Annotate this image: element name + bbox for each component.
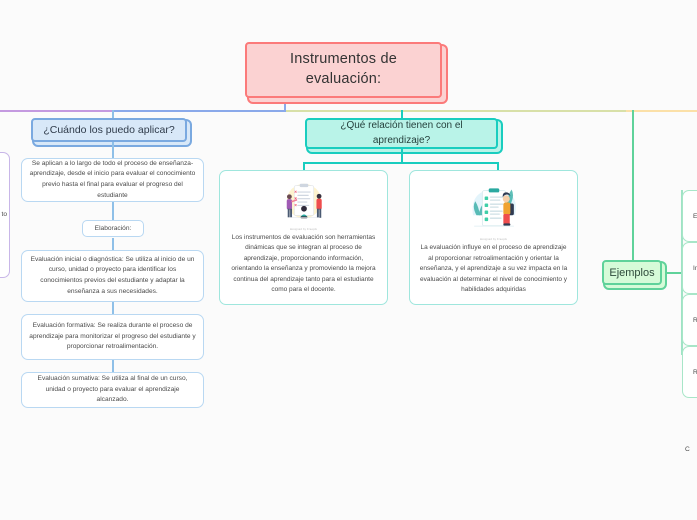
- clipped-item-en-text: En: [693, 213, 697, 220]
- root-title-line1: Instrumentos de: [290, 51, 397, 67]
- mindmap-canvas: Instrumentos de evaluación: ¿Cuándo los …: [0, 0, 697, 520]
- root-stem: [284, 98, 286, 112]
- branch-header-ejemplos[interactable]: Ejemplos: [602, 260, 662, 285]
- root-node[interactable]: Instrumentos de evaluación:: [245, 42, 442, 98]
- branch-relacion-split: [303, 162, 499, 164]
- clipboard-checklist-with-student-and-backpack-illustration: [460, 179, 528, 237]
- branch-header-cuando-label: ¿Cuándo los puedo aplicar?: [33, 124, 185, 136]
- trunk-purple-segment: [0, 110, 114, 112]
- evaluacion-sumativa-text: Evaluación sumativa: Se utiliza al final…: [29, 374, 196, 406]
- branch-cuando-spine-2: [112, 202, 114, 220]
- clipped-item-en[interactable]: En: [682, 190, 697, 242]
- branch-header-ejemplos-label: Ejemplos: [604, 267, 660, 279]
- intro-card[interactable]: Se aplican a lo largo de todo el proceso…: [21, 158, 204, 202]
- clipped-item-c[interactable]: C: [685, 446, 690, 453]
- evaluacion-influye-card[interactable]: designed by Freepik La evaluación influy…: [409, 170, 578, 305]
- instrumentos-dinamicos-text: Los instrumentos de evaluación son herra…: [228, 233, 379, 296]
- branch-ejemplos-stem: [632, 110, 634, 260]
- branch-cuando-spine-5: [112, 360, 114, 372]
- branch-cuando-spine-3: [112, 238, 114, 250]
- clipped-item-left-text: to: [2, 210, 8, 221]
- root-title-line2: evaluación:: [306, 71, 382, 87]
- clipped-item-r2-text: R: [693, 369, 697, 376]
- evaluacion-formativa-card[interactable]: Evaluación formativa: Se realiza durante…: [21, 314, 204, 360]
- elaboracion-pill-text: Elaboración:: [95, 225, 132, 232]
- evaluacion-inicial-card[interactable]: Evaluación inicial o diagnóstica: Se uti…: [21, 250, 204, 302]
- branch-cuando-spine-4: [112, 302, 114, 314]
- clipped-item-im[interactable]: Im: [682, 242, 697, 294]
- clipped-item-r2[interactable]: R: [682, 346, 697, 398]
- trunk-olive-segment: [285, 110, 627, 112]
- branch-relacion-stem: [401, 110, 403, 118]
- illustration-credit: designed by Freepik: [480, 238, 507, 241]
- trunk-yellow-segment: [626, 110, 697, 112]
- illustration-credit: designed by Freepik: [290, 228, 317, 231]
- evaluacion-sumativa-card[interactable]: Evaluación sumativa: Se utiliza al final…: [21, 372, 204, 408]
- instrumentos-dinamicos-card[interactable]: designed by Freepik Los instrumentos de …: [219, 170, 388, 305]
- clipped-item-r1[interactable]: R: [682, 294, 697, 346]
- clipped-item-left[interactable]: to: [0, 152, 10, 278]
- clipboard-checklist-with-three-people-illustration: [270, 179, 338, 227]
- clipped-item-im-text: Im: [693, 265, 697, 272]
- branch-relacion-spine: [401, 149, 403, 163]
- branch-header-cuando[interactable]: ¿Cuándo los puedo aplicar?: [31, 118, 187, 142]
- branch-header-relacion-line1: ¿Qué relación tienen con el: [340, 120, 462, 131]
- clipped-item-c-text: C: [685, 446, 690, 453]
- intro-card-text: Se aplican a lo largo de todo el proceso…: [29, 159, 196, 202]
- branch-cuando-stem: [112, 110, 114, 118]
- evaluacion-influye-text: La evaluación influye en el proceso de a…: [418, 243, 569, 296]
- trunk-blue-segment: [113, 110, 285, 112]
- branch-cuando-spine-1: [112, 142, 114, 158]
- evaluacion-inicial-text: Evaluación inicial o diagnóstica: Se uti…: [29, 255, 196, 298]
- branch-header-relacion[interactable]: ¿Qué relación tienen con el aprendizaje?: [305, 118, 498, 149]
- ejemplos-connector: [666, 272, 682, 274]
- clipped-item-r1-text: R: [693, 317, 697, 324]
- evaluacion-formativa-text: Evaluación formativa: Se realiza durante…: [29, 321, 196, 353]
- elaboracion-pill[interactable]: Elaboración:: [82, 220, 144, 237]
- branch-header-relacion-line2: aprendizaje?: [373, 135, 430, 146]
